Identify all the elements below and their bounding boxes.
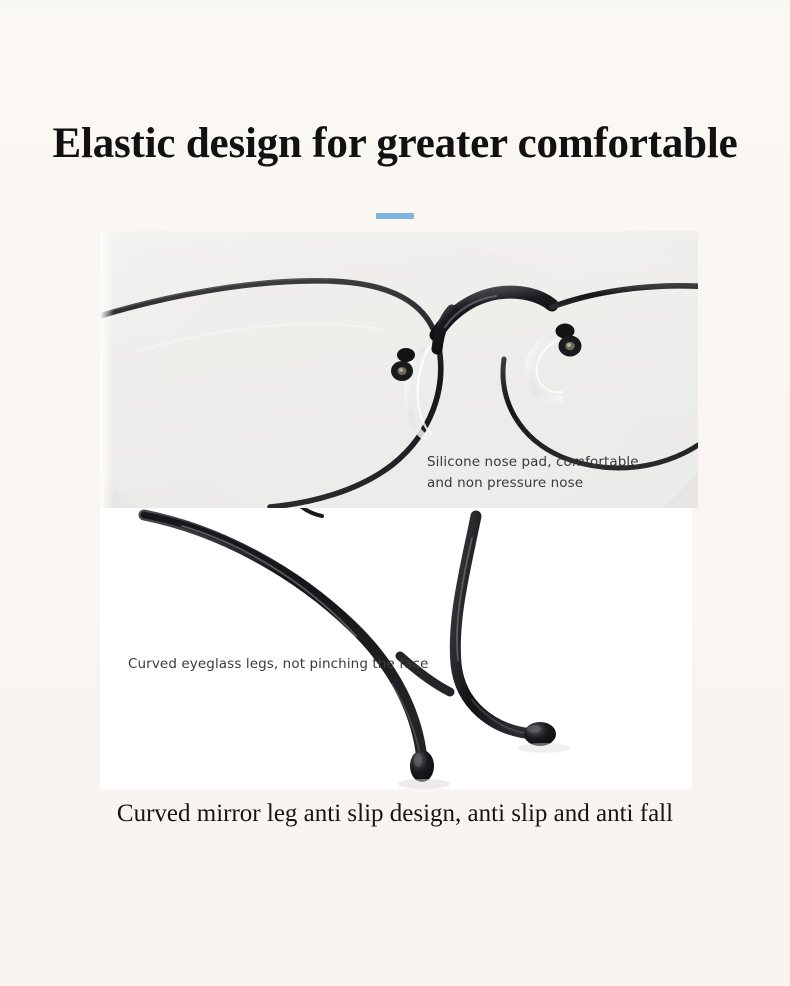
nose-pad-caption-line2: and non pressure nose bbox=[427, 473, 677, 494]
nose-pad-photo: Silicone nose pad, comfortable and non p… bbox=[100, 231, 698, 508]
temple-arms-photo: Curved eyeglass legs, not pinching the f… bbox=[100, 508, 692, 789]
temple-arms-caption: Curved eyeglass legs, not pinching the f… bbox=[128, 654, 458, 674]
temple-arms-caption-line1: Curved eyeglass legs, not pinching the f… bbox=[128, 654, 458, 674]
top-background-wash bbox=[0, 0, 790, 26]
title-accent-divider bbox=[376, 213, 414, 219]
nose-pad-caption: Silicone nose pad, comfortable and non p… bbox=[427, 452, 677, 494]
product-feature-page: Elastic design for greater comfortable bbox=[0, 0, 790, 986]
eyeglass-temple-arms-illustration bbox=[100, 508, 692, 789]
nose-pad-caption-line1: Silicone nose pad, comfortable bbox=[427, 452, 677, 473]
feature-image-gallery: Silicone nose pad, comfortable and non p… bbox=[100, 231, 698, 789]
page-title: Elastic design for greater comfortable bbox=[0, 118, 790, 170]
footer-caption: Curved mirror leg anti slip design, anti… bbox=[0, 797, 790, 831]
